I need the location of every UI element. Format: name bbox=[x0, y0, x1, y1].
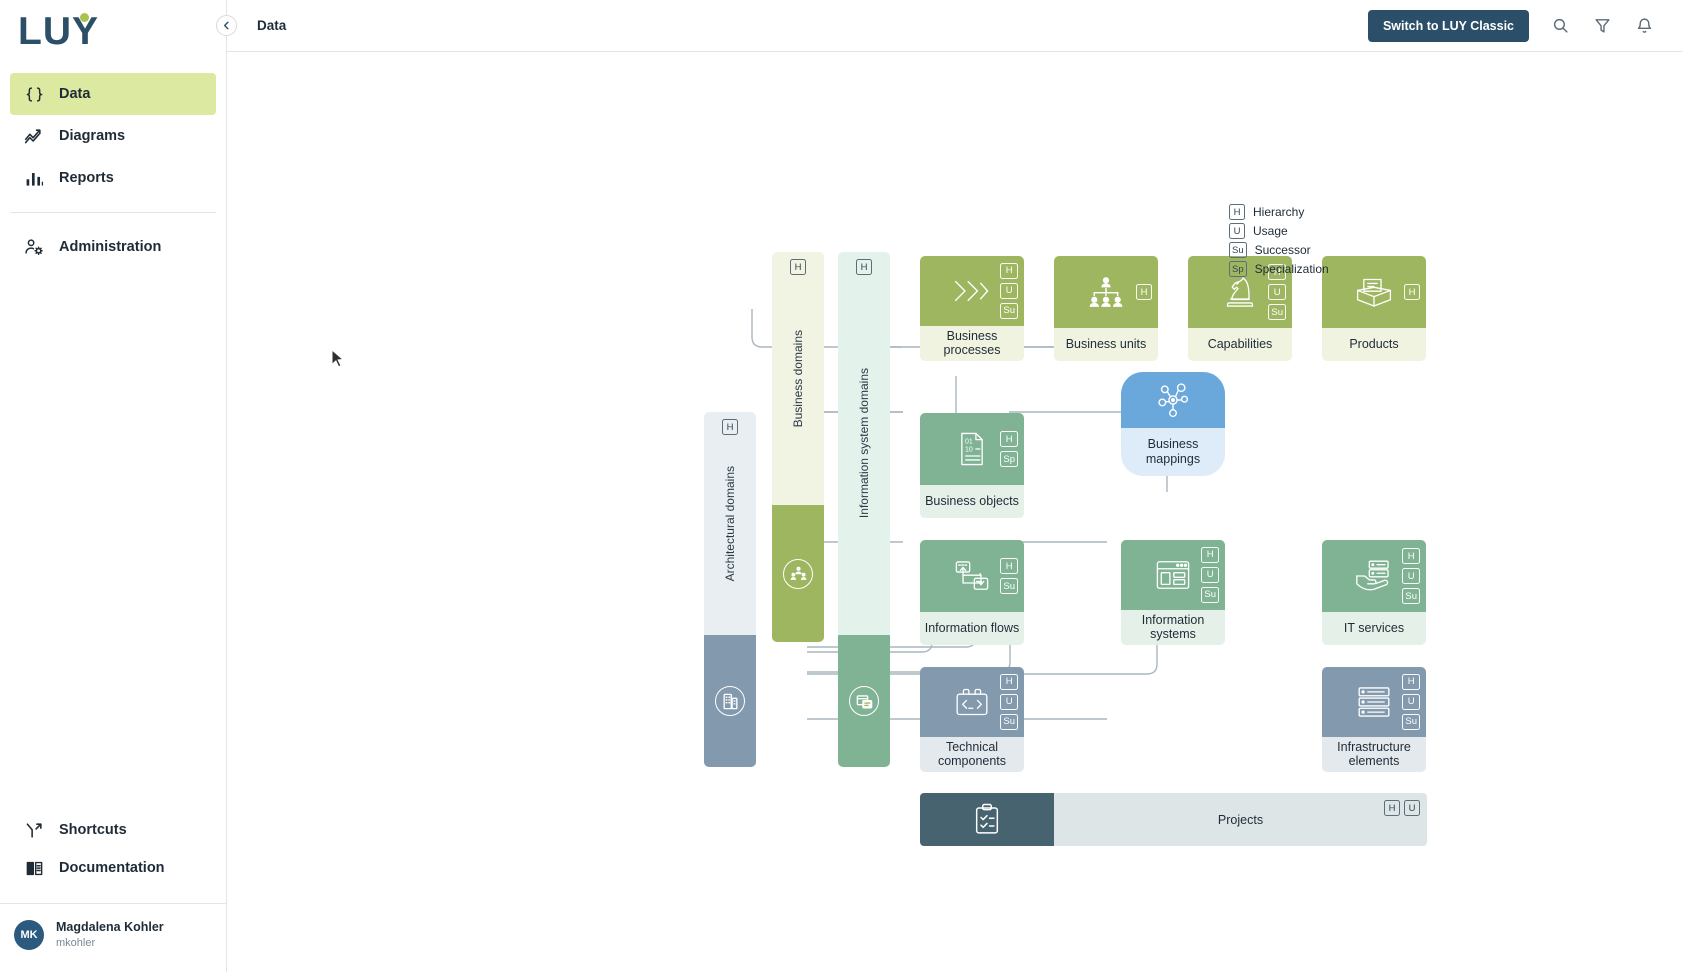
entity-card-head: H bbox=[1322, 256, 1426, 328]
relation-badge-h: H bbox=[1404, 284, 1420, 300]
arrow-branch-icon bbox=[24, 820, 44, 840]
legend-item: SpSpecialization bbox=[1229, 261, 1329, 277]
relation-badge-u: U bbox=[1268, 284, 1286, 300]
entity-card-badges: H bbox=[1404, 284, 1420, 300]
legend-item-label: Successor bbox=[1255, 243, 1311, 257]
entity-card-badges: H bbox=[1136, 284, 1152, 300]
topbar-actions: Switch to LUY Classic bbox=[1368, 10, 1655, 42]
entity-card-badges: HUSu bbox=[1402, 674, 1420, 730]
hub-label: Businessmappings bbox=[1121, 428, 1225, 476]
legend-item: HHierarchy bbox=[1229, 204, 1329, 220]
server-hand-icon bbox=[1354, 559, 1395, 593]
relation-badge-h: H bbox=[1000, 674, 1018, 690]
relation-badge-u: U bbox=[1000, 283, 1018, 299]
legend: HHierarchyUUsageSuSuccessorSpSpecializat… bbox=[1229, 204, 1329, 277]
entity-card-head: HSu bbox=[920, 540, 1024, 612]
entity-card-label: Information flows bbox=[920, 612, 1024, 645]
entity-card[interactable]: H Business units bbox=[1054, 256, 1158, 361]
relation-badge-u: U bbox=[1201, 567, 1219, 583]
legend-item-label: Specialization bbox=[1255, 262, 1329, 276]
entity-card[interactable]: HUSu IT services bbox=[1322, 540, 1426, 645]
domain-bar-badges: H bbox=[856, 259, 872, 275]
svg-text:10: 10 bbox=[965, 446, 973, 453]
data-flow-icon bbox=[953, 558, 992, 594]
domain-bar-bottom bbox=[838, 635, 890, 767]
business-mappings-hub[interactable]: Businessmappings bbox=[1121, 372, 1225, 476]
primary-nav: Data Diagrams bbox=[0, 73, 226, 268]
relation-badge-su: Su bbox=[1402, 714, 1420, 730]
projects-icon-block bbox=[920, 793, 1054, 846]
sidebar: LUY Data bbox=[0, 0, 227, 972]
data-document-icon: 0110 bbox=[956, 430, 989, 467]
relation-badge-h: H bbox=[1000, 431, 1018, 447]
entity-card-badges: HUSu bbox=[1000, 263, 1018, 319]
relation-badge-h: H bbox=[1201, 547, 1219, 563]
domain-bar-bottom bbox=[772, 505, 824, 642]
relation-badge-sp: Sp bbox=[1229, 261, 1247, 277]
app-window-icon bbox=[849, 686, 879, 716]
relation-badge-h: H bbox=[1000, 263, 1018, 279]
sidebar-item-label: Shortcuts bbox=[59, 822, 127, 838]
relation-badge-su: Su bbox=[1229, 242, 1247, 258]
entity-card-label: Infrastructure elements bbox=[1322, 737, 1426, 773]
sidebar-item-label: Documentation bbox=[59, 860, 165, 876]
entity-card-label: Products bbox=[1322, 328, 1426, 361]
domain-bar[interactable]: H Architectural domains bbox=[704, 412, 756, 767]
entity-card-head: H bbox=[1054, 256, 1158, 328]
collapse-sidebar-button[interactable] bbox=[216, 15, 237, 36]
relation-badge-su: Su bbox=[1000, 303, 1018, 319]
entity-card-label: Capabilities bbox=[1188, 328, 1292, 361]
filter-icon[interactable] bbox=[1591, 15, 1613, 37]
entity-card-head: 0110 HSp bbox=[920, 413, 1024, 485]
user-name: Magdalena Kohler bbox=[56, 920, 164, 936]
relation-badge-su: Su bbox=[1402, 588, 1420, 604]
mouse-cursor bbox=[331, 349, 345, 369]
legend-item: SuSuccessor bbox=[1229, 242, 1329, 258]
search-icon[interactable] bbox=[1549, 15, 1571, 37]
user-profile[interactable]: MK Magdalena Kohler mkohler bbox=[0, 904, 226, 972]
entity-card-badges: HUSu bbox=[1000, 674, 1018, 730]
entity-card-badges: HSp bbox=[1000, 431, 1018, 467]
entity-card-head: HUSu bbox=[1322, 540, 1426, 612]
topbar: Data Switch to LUY Classic bbox=[227, 0, 1683, 52]
chess-knight-icon bbox=[1223, 274, 1257, 310]
network-nodes-icon bbox=[1153, 381, 1192, 419]
bell-icon[interactable] bbox=[1633, 15, 1655, 37]
sidebar-spacer bbox=[0, 268, 226, 811]
secondary-nav: Shortcuts Documentation bbox=[0, 811, 226, 897]
relation-badge-h: H bbox=[856, 259, 872, 275]
chart-line-icon bbox=[24, 126, 44, 146]
relation-badge-h: H bbox=[1000, 558, 1018, 574]
domain-bar-label: Architectural domains bbox=[723, 466, 737, 581]
domain-bar-top: H Information system domains bbox=[838, 252, 890, 635]
relation-badge-u: U bbox=[1402, 694, 1420, 710]
app-logo[interactable]: LUY bbox=[0, 0, 226, 63]
relation-badge-u: U bbox=[1229, 223, 1245, 239]
sidebar-item-label: Data bbox=[59, 86, 90, 102]
chevrons-right-icon bbox=[951, 275, 993, 306]
relation-badge-su: Su bbox=[1201, 587, 1219, 603]
relation-badge-h: H bbox=[1384, 800, 1400, 816]
sidebar-item-shortcuts[interactable]: Shortcuts bbox=[10, 811, 216, 849]
domain-bar-badges: H bbox=[722, 419, 738, 435]
server-rack-icon bbox=[1355, 685, 1394, 719]
avatar: MK bbox=[14, 920, 44, 950]
entity-card-label: Business processes bbox=[920, 326, 1024, 362]
switch-to-classic-button[interactable]: Switch to LUY Classic bbox=[1368, 10, 1529, 42]
relation-badge-su: Su bbox=[1268, 304, 1286, 320]
sidebar-item-label: Reports bbox=[59, 170, 114, 186]
sidebar-item-data[interactable]: Data bbox=[10, 73, 216, 115]
people-group-icon bbox=[783, 559, 813, 589]
entity-card-head: HUSu bbox=[1121, 540, 1225, 610]
legend-item-label: Usage bbox=[1253, 224, 1288, 238]
svg-text:01: 01 bbox=[965, 439, 973, 446]
hub-head bbox=[1121, 372, 1225, 428]
relation-badge-h: H bbox=[790, 259, 806, 275]
dashboard-window-icon bbox=[1154, 558, 1191, 591]
user-gear-icon bbox=[24, 237, 44, 257]
org-chart-icon bbox=[1087, 276, 1124, 309]
projects-label: Projects bbox=[1218, 813, 1263, 827]
domain-bar-badges: H bbox=[790, 259, 806, 275]
entity-card[interactable]: HUSu Business processes bbox=[920, 256, 1024, 361]
entity-card-badges: HUSu bbox=[1201, 547, 1219, 603]
projects-body: Projects HU bbox=[1054, 793, 1427, 846]
entity-card[interactable]: H Products bbox=[1322, 256, 1426, 361]
projects-badges: HU bbox=[1384, 800, 1420, 816]
breadcrumb: Data bbox=[257, 18, 286, 33]
code-chip-icon bbox=[953, 685, 992, 718]
app-root: LUY Data bbox=[0, 0, 1683, 972]
relation-badge-su: Su bbox=[1000, 578, 1018, 594]
relation-badge-h: H bbox=[1229, 204, 1245, 220]
chevron-left-icon bbox=[221, 20, 232, 31]
user-login: mkohler bbox=[56, 936, 164, 950]
domain-bar-top: H Architectural domains bbox=[704, 412, 756, 635]
entity-card-badges: HSu bbox=[1000, 558, 1018, 594]
relation-badge-u: U bbox=[1000, 694, 1018, 710]
sidebar-item-label: Administration bbox=[59, 239, 161, 255]
clipboard-check-icon bbox=[972, 802, 1001, 836]
building-grid-icon bbox=[715, 686, 745, 716]
entity-card-head: HUSu bbox=[920, 256, 1024, 326]
sidebar-item-diagrams[interactable]: Diagrams bbox=[10, 115, 216, 157]
braces-icon bbox=[24, 84, 44, 104]
logo-dot bbox=[80, 13, 89, 22]
book-icon bbox=[24, 858, 44, 878]
domain-bar-label: Business domains bbox=[791, 330, 805, 427]
legend-item-label: Hierarchy bbox=[1253, 205, 1304, 219]
sidebar-item-administration[interactable]: Administration bbox=[10, 226, 216, 268]
entity-card-badges: HUSu bbox=[1402, 548, 1420, 604]
entity-card-head: HUSu bbox=[1322, 667, 1426, 737]
sidebar-item-documentation[interactable]: Documentation bbox=[10, 849, 216, 887]
entity-card[interactable]: 0110 HSp Business objects bbox=[920, 413, 1024, 518]
relation-badge-su: Su bbox=[1000, 714, 1018, 730]
sidebar-item-label: Diagrams bbox=[59, 128, 125, 144]
open-box-icon bbox=[1353, 275, 1395, 309]
bar-chart-icon bbox=[24, 168, 44, 188]
main-area: Data Switch to LUY Classic bbox=[227, 0, 1683, 972]
domain-bar-bottom bbox=[704, 635, 756, 767]
entity-card-label: Business objects bbox=[920, 485, 1024, 518]
entity-card-label: IT services bbox=[1322, 612, 1426, 645]
domain-bar-top: H Business domains bbox=[772, 252, 824, 505]
relation-badge-h: H bbox=[1402, 548, 1420, 564]
relation-badge-u: U bbox=[1404, 800, 1420, 816]
entity-card-head: HUSu bbox=[920, 667, 1024, 737]
relation-badge-h: H bbox=[1136, 284, 1152, 300]
sidebar-item-reports[interactable]: Reports bbox=[10, 157, 216, 199]
projects-bar[interactable]: Projects HU bbox=[920, 793, 1427, 846]
relation-badge-u: U bbox=[1402, 568, 1420, 584]
entity-card[interactable]: HUSu Infrastructure elements bbox=[1322, 667, 1426, 772]
entity-card-label: Technical components bbox=[920, 737, 1024, 773]
entity-card[interactable]: HUSu Technical components bbox=[920, 667, 1024, 772]
relation-badge-sp: Sp bbox=[1000, 451, 1018, 467]
domain-bar-label: Information system domains bbox=[857, 368, 871, 518]
relation-badge-h: H bbox=[722, 419, 738, 435]
domain-bar[interactable]: H Business domains bbox=[772, 252, 824, 642]
entity-card[interactable]: HSu Information flows bbox=[920, 540, 1024, 645]
relation-badge-h: H bbox=[1402, 674, 1420, 690]
nav-divider bbox=[10, 212, 216, 213]
entity-card[interactable]: HUSu Information systems bbox=[1121, 540, 1225, 645]
domain-bar[interactable]: H Information system domains bbox=[838, 252, 890, 767]
legend-item: UUsage bbox=[1229, 223, 1329, 239]
entity-card-label: Information systems bbox=[1121, 610, 1225, 646]
entity-card-label: Business units bbox=[1054, 328, 1158, 361]
diagram-canvas[interactable]: H Architectural domains H Business domai… bbox=[227, 52, 1683, 972]
